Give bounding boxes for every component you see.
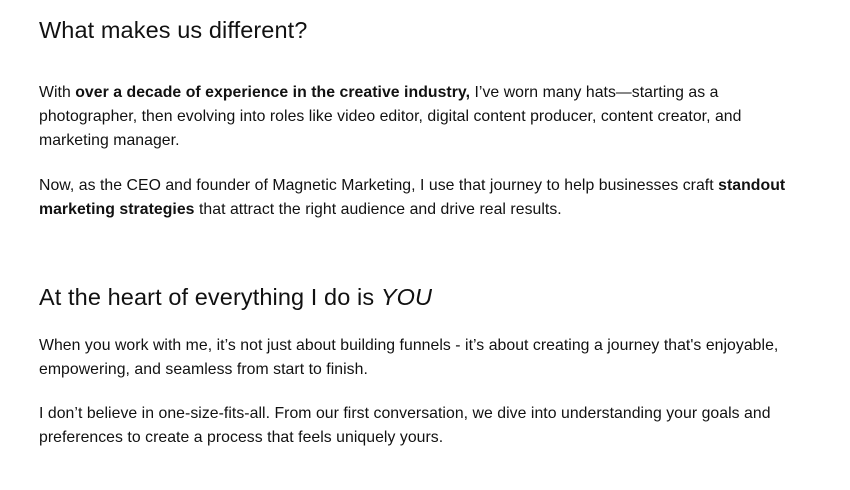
paragraph-experience-lead: With [39, 84, 75, 101]
spacer [39, 222, 801, 282]
paragraph-work-with-me: When you work with me, it’s not just abo… [39, 334, 801, 382]
paragraph-one-size-fits-all: I don’t believe in one-size-fits-all. Fr… [39, 402, 801, 450]
paragraph-ceo-founder: Now, as the CEO and founder of Magnetic … [39, 174, 801, 222]
paragraph-experience: With over a decade of experience in the … [39, 81, 801, 153]
paragraph-ceo-founder-tail: that attract the right audience and driv… [195, 201, 562, 218]
spacer [39, 312, 801, 334]
article-content: What makes us different? With over a dec… [39, 0, 801, 450]
paragraph-ceo-founder-lead: Now, as the CEO and founder of Magnetic … [39, 177, 718, 194]
page-title: What makes us different? [39, 15, 801, 45]
spacer [39, 45, 801, 81]
spacer [39, 382, 801, 402]
section-title-you-lead: At the heart of everything I do is [39, 284, 381, 310]
paragraph-experience-bold: over a decade of experience in the creat… [75, 84, 470, 101]
page-canvas: What makes us different? With over a dec… [0, 0, 850, 490]
section-title-you-emphasis: YOU [381, 284, 432, 310]
section-title-you: At the heart of everything I do is YOU [39, 282, 801, 312]
spacer [39, 153, 801, 174]
